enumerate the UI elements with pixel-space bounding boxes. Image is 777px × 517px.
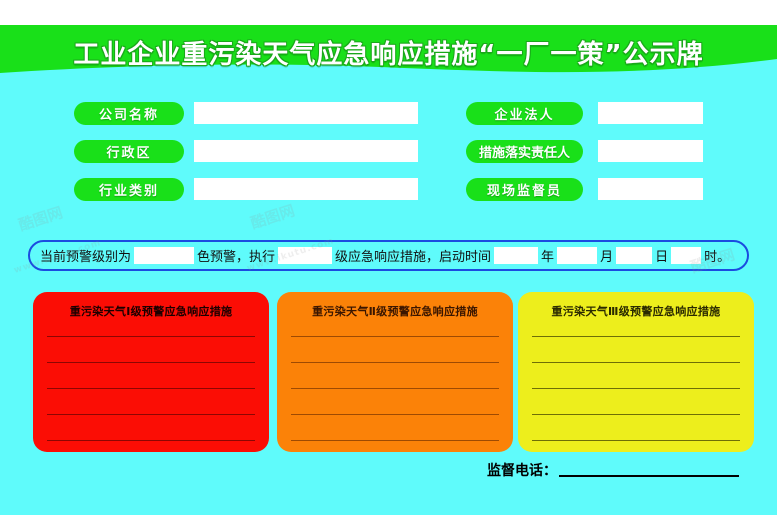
label-company-name: 公司名称 bbox=[74, 102, 184, 125]
supervision-phone-label: 监督电话： bbox=[487, 460, 557, 480]
rule-line bbox=[532, 388, 740, 389]
alert-hour-blank[interactable] bbox=[671, 247, 701, 264]
alert-month-blank[interactable] bbox=[557, 247, 597, 264]
rule-line bbox=[532, 336, 740, 337]
input-legal-representative[interactable] bbox=[598, 102, 703, 124]
label-site-supervisor: 现场监督员 bbox=[466, 178, 583, 201]
rule-line bbox=[47, 440, 255, 441]
input-measure-responsible-person[interactable] bbox=[598, 140, 703, 162]
measure-card-level-3-title: 重污染天气Ⅲ级预警应急响应措施 bbox=[518, 303, 754, 319]
page-title: 工业企业重污染天气应急响应措施“一厂一策”公示牌 bbox=[0, 34, 777, 71]
label-measure-responsible-person: 措施落实责任人 bbox=[466, 140, 583, 163]
rule-line bbox=[291, 414, 499, 415]
rule-line bbox=[532, 362, 740, 363]
rule-line bbox=[47, 388, 255, 389]
rule-line bbox=[47, 336, 255, 337]
watermark-text: 酷图网 bbox=[248, 200, 297, 234]
rule-line bbox=[291, 440, 499, 441]
measure-card-level-1-title: 重污染天气Ⅰ级预警应急响应措施 bbox=[33, 303, 269, 319]
label-site-supervisor-text: 现场监督员 bbox=[487, 180, 562, 199]
alert-year-blank[interactable] bbox=[494, 247, 538, 264]
alert-unit-month: 月 bbox=[600, 246, 613, 265]
rule-line bbox=[47, 414, 255, 415]
input-site-supervisor[interactable] bbox=[598, 178, 703, 200]
measure-card-level-3-rules[interactable] bbox=[532, 328, 740, 440]
alert-level-blank[interactable] bbox=[278, 247, 332, 264]
label-legal-representative: 企业法人 bbox=[466, 102, 583, 125]
alert-color-blank[interactable] bbox=[134, 247, 194, 264]
measure-card-level-3: 重污染天气Ⅲ级预警应急响应措施 bbox=[518, 292, 754, 452]
alert-unit-hour: 时。 bbox=[704, 246, 730, 265]
rule-line bbox=[291, 336, 499, 337]
header-banner: 工业企业重污染天气应急响应措施“一厂一策”公示牌 bbox=[0, 25, 777, 90]
watermark-text: 酷图网 bbox=[16, 202, 65, 236]
supervision-phone-input[interactable] bbox=[559, 475, 739, 477]
measure-card-level-2-title: 重污染天气Ⅱ级预警应急响应措施 bbox=[277, 303, 513, 319]
input-company-name[interactable] bbox=[194, 102, 418, 124]
measure-card-level-1: 重污染天气Ⅰ级预警应急响应措施 bbox=[33, 292, 269, 452]
measure-card-level-1-rules[interactable] bbox=[47, 328, 255, 440]
label-industry-category: 行业类别 bbox=[74, 178, 184, 201]
supervision-phone-row: 监督电话： bbox=[487, 460, 739, 480]
rule-line bbox=[291, 362, 499, 363]
label-measure-responsible-person-text: 措施落实责任人 bbox=[479, 142, 570, 161]
alert-text-color-suffix: 色预警，执行 bbox=[197, 246, 275, 265]
label-administrative-district: 行政区 bbox=[74, 140, 184, 163]
input-industry-category[interactable] bbox=[194, 178, 418, 200]
alert-unit-year: 年 bbox=[541, 246, 554, 265]
top-white-margin bbox=[0, 0, 777, 25]
alert-unit-day: 日 bbox=[655, 246, 668, 265]
rule-line bbox=[532, 440, 740, 441]
public-notice-board: 工业企业重污染天气应急响应措施“一厂一策”公示牌 公司名称 行政区 行业类别 企… bbox=[0, 0, 777, 517]
measure-card-level-2: 重污染天气Ⅱ级预警应急响应措施 bbox=[277, 292, 513, 452]
rule-line bbox=[47, 362, 255, 363]
rule-line bbox=[532, 414, 740, 415]
label-industry-category-text: 行业类别 bbox=[99, 180, 159, 199]
current-alert-level-bar: 当前预警级别为 色预警，执行 级应急响应措施，启动时间 年 月 日 时。 bbox=[28, 240, 749, 271]
alert-text-measure: 级应急响应措施，启动时间 bbox=[335, 246, 491, 265]
input-administrative-district[interactable] bbox=[194, 140, 418, 162]
alert-day-blank[interactable] bbox=[616, 247, 652, 264]
label-administrative-district-text: 行政区 bbox=[106, 142, 151, 161]
label-legal-representative-text: 企业法人 bbox=[494, 104, 554, 123]
label-company-name-text: 公司名称 bbox=[99, 104, 159, 123]
rule-line bbox=[291, 388, 499, 389]
alert-text-prefix: 当前预警级别为 bbox=[40, 246, 131, 265]
measure-card-level-2-rules[interactable] bbox=[291, 328, 499, 440]
